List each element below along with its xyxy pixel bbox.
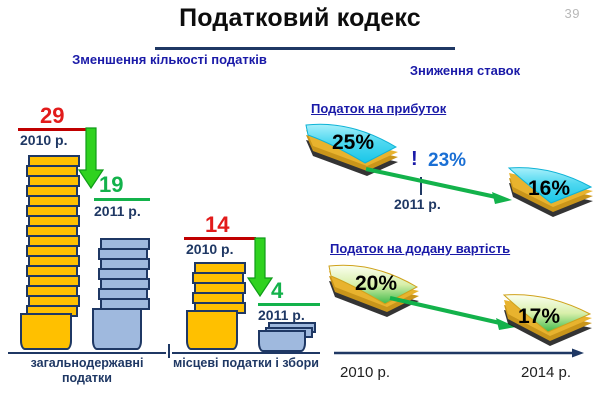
panel-divider xyxy=(168,344,170,358)
page-title: Податковий кодекс xyxy=(0,4,600,33)
timeline-axis xyxy=(334,348,586,360)
bar-local-2010 xyxy=(184,262,252,350)
slide-canvas: 39 Податковий кодекс Зменшення кількості… xyxy=(0,0,600,416)
vat-from-value: 20% xyxy=(355,272,397,296)
vat-title: Податок на додану вартість xyxy=(330,241,510,256)
group1-category-label: загальнодержавні податки xyxy=(8,356,166,386)
group1-baseline xyxy=(8,352,166,354)
bar-local-2011 xyxy=(256,322,322,352)
group2-category-label: місцеві податки і збори xyxy=(172,356,320,371)
timeline-start-label: 2010 р. xyxy=(340,364,390,381)
group2-to-year: 2011 р. xyxy=(258,307,305,323)
right-section-heading: Зниження ставок xyxy=(365,63,565,78)
group2-baseline xyxy=(172,352,320,354)
group2-to-rule xyxy=(258,303,320,306)
bar-national-2010 xyxy=(18,155,88,350)
group2-from-rule xyxy=(184,237,256,240)
group1-to-year: 2011 р. xyxy=(94,203,141,219)
left-section-heading: Зменшення кількості податків xyxy=(62,52,277,67)
vat-to-value: 17% xyxy=(518,305,560,329)
bar-national-2011 xyxy=(90,238,156,350)
profit-tax-arrow xyxy=(366,166,514,208)
timeline-end-label: 2014 р. xyxy=(521,364,571,381)
group1-to-rule xyxy=(94,198,150,201)
profit-tax-title: Податок на прибуток xyxy=(311,101,446,116)
group2-from-year: 2010 р. xyxy=(186,241,233,257)
group1-from-value: 29 xyxy=(40,103,64,129)
group2-from-value: 14 xyxy=(205,212,229,238)
profit-tax-to-value: 16% xyxy=(528,177,570,201)
group1-from-year: 2010 р. xyxy=(20,132,67,148)
profit-tax-from-value: 25% xyxy=(332,131,374,155)
group2-to-value: 4 xyxy=(271,278,283,304)
title-divider xyxy=(155,47,455,50)
group1-to-value: 19 xyxy=(99,172,123,198)
